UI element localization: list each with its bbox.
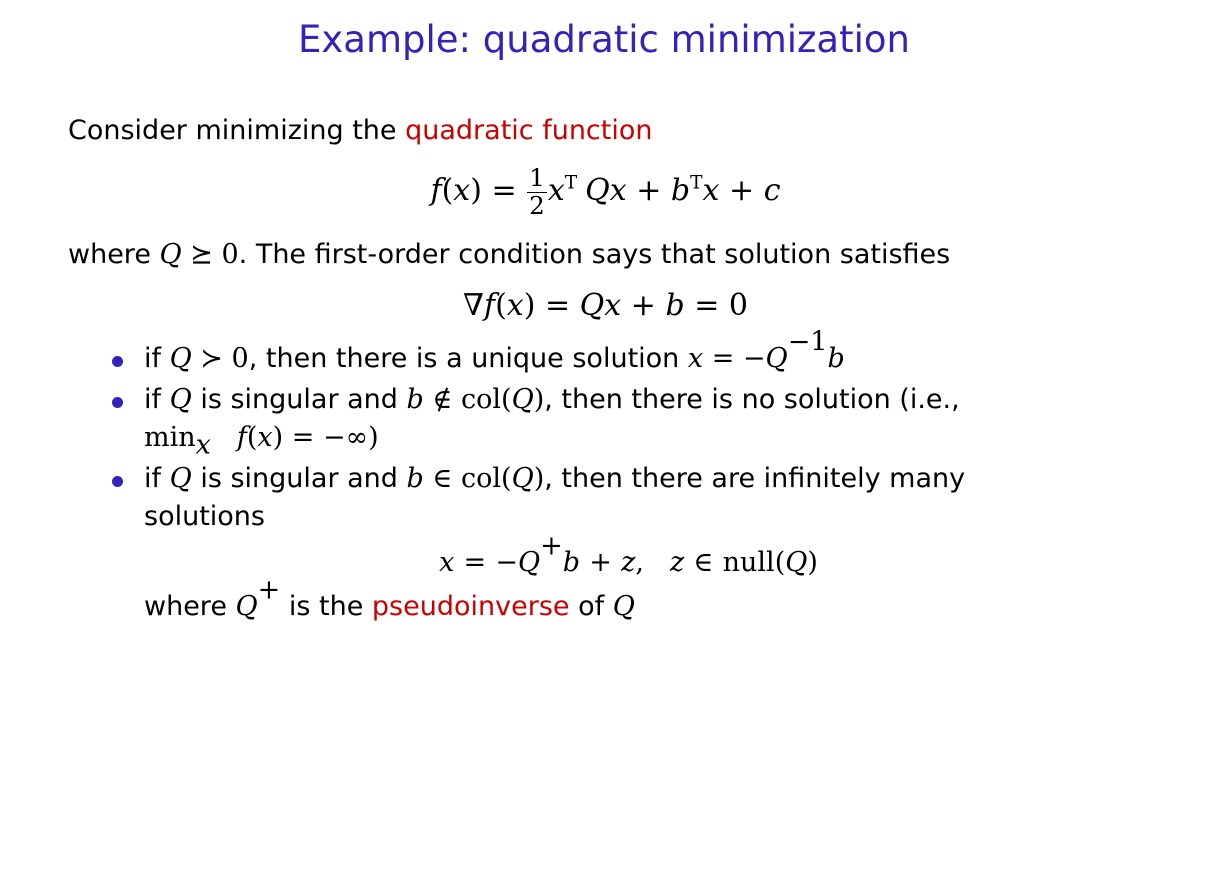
- bullet-0-solution-b: b: [828, 343, 845, 374]
- bullet-2-col-operator: col: [461, 463, 501, 494]
- bullet-0-solution-equals: =: [712, 343, 735, 374]
- equation-pseudo-null-close-paren: ): [807, 547, 818, 578]
- bullet-0-solution-minus: −: [743, 343, 766, 374]
- bullet-1-text-1: if: [144, 384, 170, 415]
- bullet-1-min-equals: =: [292, 422, 315, 453]
- equation-pseudo-equals: =: [464, 547, 487, 578]
- equation-fx-open-paren: (: [442, 173, 454, 208]
- equation-gradient-close-paren: ): [524, 288, 536, 323]
- equation-pseudo-null-operator: null: [723, 547, 775, 578]
- equation-fx-close-paren: ): [470, 173, 482, 208]
- list-item-unique-solution: if Q ≻ 0, then there is a unique solutio…: [106, 340, 1143, 378]
- equation-fx-b: b: [671, 173, 690, 208]
- bullet-1-min-close-paren: ): [273, 422, 284, 453]
- bullet-1-col-arg: Q: [512, 384, 534, 415]
- intro-highlight-text: quadratic function: [405, 115, 652, 146]
- equation-gradient-x: x: [604, 288, 621, 323]
- pseudo-note-prefix: where: [144, 591, 236, 622]
- bullet-1-min-f: f: [237, 422, 247, 453]
- equation-gradient-zero: 0: [729, 288, 748, 323]
- equation-gradient-open-paren: (: [495, 288, 507, 323]
- pseudo-note-suffix: of: [570, 591, 613, 622]
- equation-pseudo-null-arg: Q: [785, 547, 807, 578]
- condition-relation-psd: ⪰: [190, 239, 213, 270]
- equation-gradient-b: b: [665, 288, 684, 323]
- pseudo-note-highlight: pseudoinverse: [372, 591, 570, 622]
- bullet-2-symbol-Q: Q: [170, 463, 192, 494]
- pseudoinverse-note: where Q+ is the pseudoinverse of Q: [144, 588, 1143, 626]
- bullet-2-col-arg: Q: [512, 463, 534, 494]
- bullet-0-solution-exponent: −1: [788, 326, 828, 357]
- condition-paragraph: where Q ⪰ 0. The first-order condition s…: [68, 236, 1143, 274]
- bullet-1-min-arg: x: [257, 422, 272, 453]
- bullet-0-text-2: , then there is a unique solution: [249, 343, 688, 374]
- equation-fx-fraction: 12: [527, 166, 547, 218]
- equation-pseudo-dagger: +: [540, 530, 563, 561]
- equation-pseudo-plus: +: [589, 547, 612, 578]
- bullet-1-min-close-group: ): [368, 422, 379, 453]
- bullet-0-relation-pd: ≻: [200, 343, 223, 374]
- pseudo-note-middle: is the: [280, 591, 372, 622]
- equation-fx-x2: x: [610, 173, 627, 208]
- equation-fx: f(x) = 12xTQx + bTx + c: [68, 166, 1143, 218]
- equation-gradient: ∇f(x) = Qx + b = 0: [68, 290, 1143, 322]
- condition-suffix: . The first-order condition says that so…: [239, 239, 951, 270]
- equation-pseudo-z: z: [621, 547, 635, 578]
- bullet-1-min-operator: min: [144, 422, 196, 453]
- pseudo-note-dagger: +: [258, 574, 281, 605]
- bullet-0-solution-x: x: [688, 343, 703, 374]
- bullet-1-text-2: is singular and: [192, 384, 407, 415]
- bullet-2-col-close-paren: ): [534, 463, 545, 494]
- equation-pseudo-comma: ,: [635, 547, 644, 578]
- page-title: Example: quadratic minimization: [0, 18, 1208, 61]
- equation-gradient-plus: +: [631, 288, 656, 323]
- equation-fx-plus-2: +: [729, 173, 754, 208]
- bullet-1-min-infinity: ∞: [346, 422, 369, 453]
- equation-fx-fraction-numerator: 1: [527, 166, 547, 193]
- intro-paragraph: Consider minimizing the quadratic functi…: [68, 112, 1143, 150]
- condition-prefix: where: [68, 239, 160, 270]
- nabla-icon: ∇: [463, 288, 484, 323]
- equation-pseudo-x: x: [439, 547, 454, 578]
- bullet-0-zero: 0: [232, 343, 249, 374]
- bullet-2-col-open-paren: (: [501, 463, 512, 494]
- equation-fx-Q: Q: [585, 173, 610, 208]
- list-item-no-solution: if Q is singular and b ∉ col(Q), then th…: [106, 381, 1143, 457]
- pseudo-note-symbol-Q2: Q: [613, 591, 635, 622]
- bullet-1-min-open-paren: (: [247, 422, 258, 453]
- bullet-2-symbol-b: b: [407, 463, 424, 494]
- equation-fx-plus-1: +: [636, 173, 661, 208]
- bullet-1-col-operator: col: [461, 384, 501, 415]
- equation-gradient-equals-1: =: [545, 288, 570, 323]
- equation-pseudo-z2: z: [670, 547, 684, 578]
- equation-pseudo-Q: Q: [518, 547, 540, 578]
- equation-fx-fraction-denominator: 2: [527, 193, 547, 219]
- bullet-1-col-open-paren: (: [501, 384, 512, 415]
- equation-fx-transpose-2: T: [690, 173, 702, 194]
- bullet-2-relation-in: ∈: [432, 463, 452, 494]
- slide-body: Consider minimizing the quadratic functi…: [68, 112, 1143, 629]
- equation-pseudo-b: b: [563, 547, 580, 578]
- bullet-1-symbol-Q: Q: [170, 384, 192, 415]
- bullet-0-solution-Q: Q: [766, 343, 788, 374]
- bullet-2-text-1: if: [144, 463, 170, 494]
- equation-fx-transpose-1: T: [565, 173, 577, 194]
- equation-gradient-Q: Q: [580, 288, 605, 323]
- bullet-1-min-subscript: x: [196, 429, 211, 460]
- bullet-1-col-close-paren: ): [534, 384, 545, 415]
- equation-fx-x1: x: [548, 173, 565, 208]
- equation-fx-arg: x: [453, 173, 470, 208]
- equation-gradient-equals-2: =: [694, 288, 719, 323]
- condition-zero: 0: [221, 239, 238, 270]
- pseudo-note-symbol-Q: Q: [236, 591, 258, 622]
- bullet-1-symbol-b: b: [407, 384, 424, 415]
- bullet-1-text-3: , then there is no solution (i.e.,: [544, 384, 959, 415]
- bullet-list: if Q ≻ 0, then there is a unique solutio…: [68, 340, 1143, 626]
- equation-pseudo-element-of: ∈: [693, 547, 713, 578]
- list-item-infinitely-many-solutions: if Q is singular and b ∈ col(Q), then th…: [106, 460, 1143, 626]
- equation-fx-f: f: [430, 173, 441, 208]
- bullet-2-text-3: , then there are infinitely many: [544, 463, 965, 494]
- equation-fx-equals: =: [491, 173, 516, 208]
- bullet-1-relation-not-in: ∉: [432, 384, 452, 415]
- bullet-1-min-minus: −: [323, 422, 346, 453]
- condition-symbol-Q: Q: [160, 239, 182, 270]
- equation-fx-x3: x: [703, 173, 720, 208]
- bullet-2-text-2: is singular and: [192, 463, 407, 494]
- equation-fx-c: c: [764, 173, 781, 208]
- bullet-0-text-1: if: [144, 343, 170, 374]
- equation-pseudo-minus: −: [495, 547, 518, 578]
- equation-pseudo-null-open-paren: (: [775, 547, 786, 578]
- intro-lead-text: Consider minimizing the: [68, 115, 405, 146]
- equation-gradient-f: f: [484, 288, 495, 323]
- bullet-2-text-4: solutions: [144, 501, 265, 532]
- bullet-0-symbol-Q: Q: [170, 343, 192, 374]
- slide-canvas: Example: quadratic minimization Consider…: [0, 0, 1208, 889]
- equation-gradient-arg: x: [507, 288, 524, 323]
